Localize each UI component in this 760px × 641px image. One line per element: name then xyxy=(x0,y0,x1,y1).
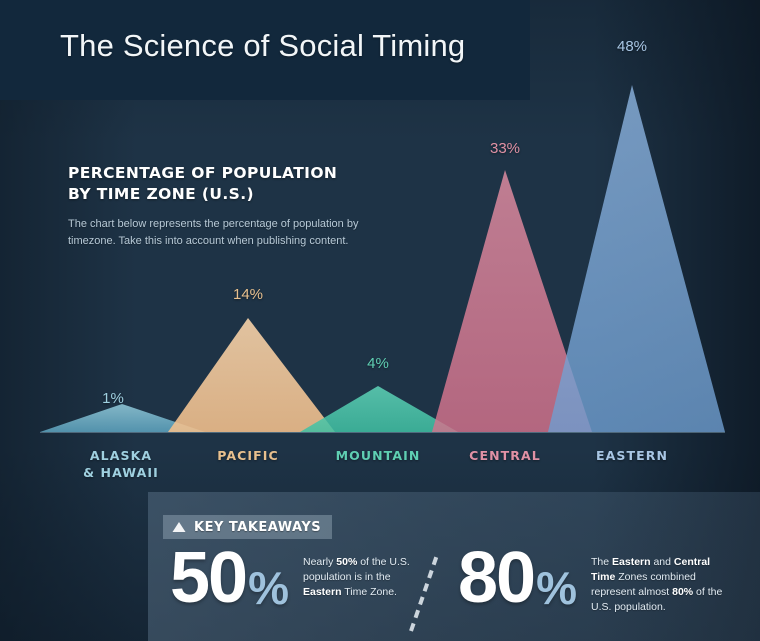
infographic-canvas: The Science of Social Timing PERCENTAGE … xyxy=(0,0,760,641)
peak-value-eastern: 48% xyxy=(617,38,647,55)
key-takeaways-badge-label: KEY TAKEAWAYS xyxy=(194,520,321,535)
category-label-mountain: MOUNTAIN xyxy=(336,447,421,464)
t50-b1: 50% xyxy=(336,556,357,568)
t80-b1: Eastern xyxy=(612,556,651,568)
key-takeaways-panel: KEY TAKEAWAYS 50 % Nearly 50% of the U.S… xyxy=(148,492,760,641)
category-label-alaska: ALASKA & HAWAII xyxy=(83,447,159,481)
takeaway-80-percent-symbol: % xyxy=(536,557,577,619)
category-label-alaska-line2: & HAWAII xyxy=(83,464,159,481)
category-label-eastern: EASTERN xyxy=(596,447,668,464)
takeaway-50-number: 50 xyxy=(170,547,246,609)
takeaway-stat-80: 80 % The Eastern and Central Time Zones … xyxy=(458,547,731,615)
t50-post: Time Zone. xyxy=(342,586,397,598)
timezone-area-chart xyxy=(0,0,760,445)
chart-peaks xyxy=(40,85,725,432)
key-takeaways-row: 50 % Nearly 50% of the U.S. population i… xyxy=(148,547,760,641)
peak-area-pacific xyxy=(168,318,335,432)
t50-pre: Nearly xyxy=(303,556,336,568)
dashed-slash-divider xyxy=(405,551,445,637)
t80-pre: The xyxy=(591,556,612,568)
peak-value-pacific: 14% xyxy=(233,286,263,303)
peak-value-mountain: 4% xyxy=(367,355,389,372)
category-label-alaska-line1: ALASKA xyxy=(83,447,159,464)
t80-b3: 80% xyxy=(672,586,693,598)
takeaway-80-number: 80 xyxy=(458,547,534,609)
t50-b2: Eastern xyxy=(303,586,342,598)
peak-value-central: 33% xyxy=(490,140,520,157)
takeaway-stat-50: 50 % Nearly 50% of the U.S. population i… xyxy=(170,547,423,609)
category-label-pacific: PACIFIC xyxy=(217,447,279,464)
key-takeaways-badge[interactable]: KEY TAKEAWAYS xyxy=(163,515,332,539)
peak-value-alaska: 1% xyxy=(102,390,124,407)
mountain-peak-icon xyxy=(171,521,187,533)
takeaway-80-description: The Eastern and Central Time Zones combi… xyxy=(591,555,731,615)
category-label-central: CENTRAL xyxy=(469,447,541,464)
peak-area-eastern xyxy=(548,85,725,432)
takeaway-50-percent-symbol: % xyxy=(248,557,289,619)
t80-mid: and xyxy=(651,556,674,568)
